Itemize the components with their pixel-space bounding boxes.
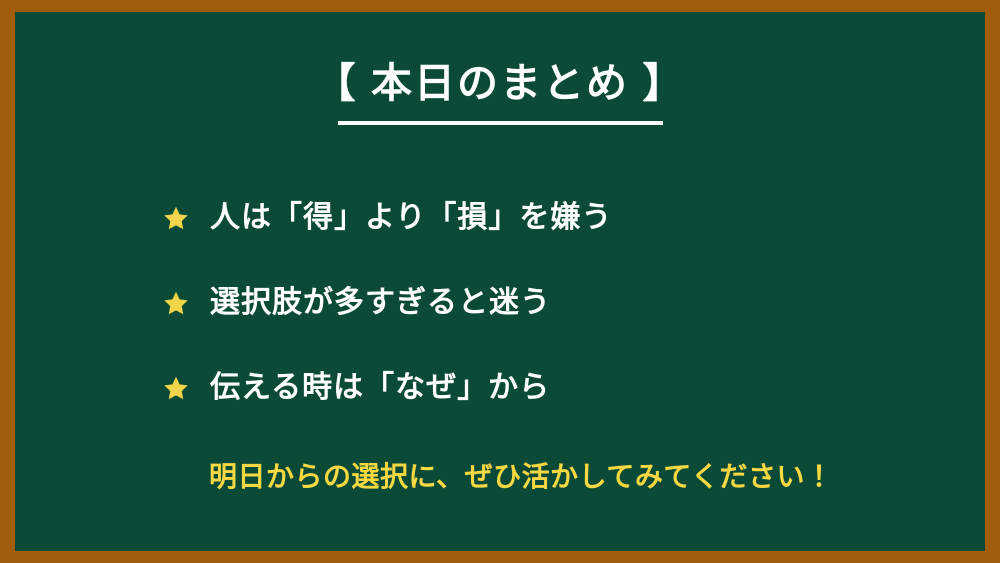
list-item-label: 選択肢が多すぎると迷う	[210, 285, 551, 321]
list-item-label: 伝える時は「なぜ」から	[210, 370, 550, 406]
title-block: 【 本日のまとめ 】	[15, 60, 985, 125]
summary-slide: 【 本日のまとめ 】 人は「得」より「損」を嫌う 選択肢が多すぎると迷う	[0, 0, 1000, 563]
star-icon	[163, 375, 189, 401]
list-item-label: 人は「得」より「損」を嫌う	[210, 200, 612, 236]
star-icon	[163, 290, 189, 316]
list-item: 人は「得」より「損」を嫌う	[163, 194, 923, 242]
closing-message-block: 明日からの選択に、ぜひ活かしてみてください！	[209, 460, 833, 494]
star-icon	[163, 205, 189, 231]
title-underline	[338, 121, 663, 125]
summary-bullet-list: 人は「得」より「損」を嫌う 選択肢が多すぎると迷う 伝える時は「なぜ」から	[163, 194, 923, 449]
list-item: 伝える時は「なぜ」から	[163, 364, 923, 412]
slide-content-area: 【 本日のまとめ 】 人は「得」より「損」を嫌う 選択肢が多すぎると迷う	[15, 12, 985, 551]
list-item: 選択肢が多すぎると迷う	[163, 279, 923, 327]
page-title: 【 本日のまとめ 】	[15, 60, 985, 107]
closing-message: 明日からの選択に、ぜひ活かしてみてください！	[209, 461, 833, 492]
